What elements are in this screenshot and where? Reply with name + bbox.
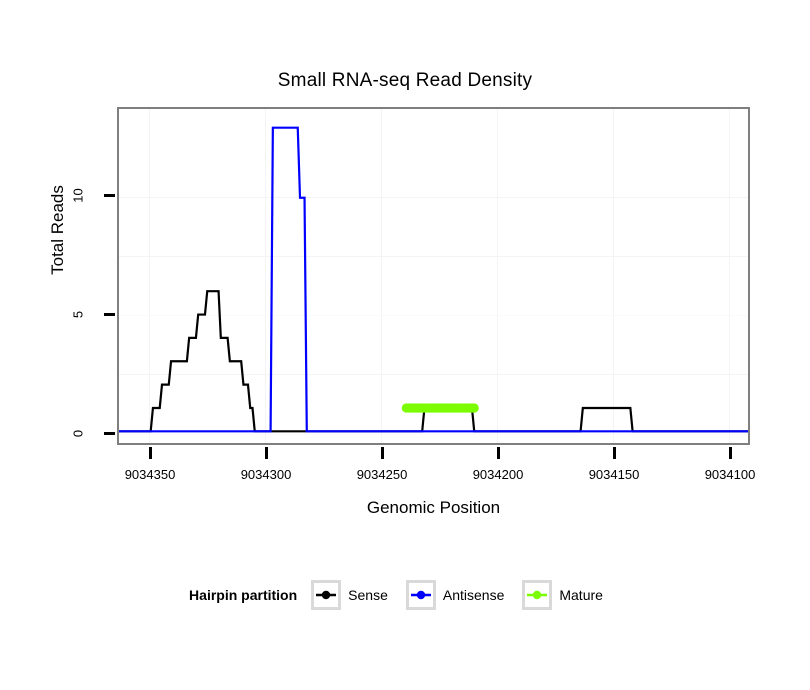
x-tick-mark-9034300 [265,447,268,459]
series-line-antisense [119,128,748,432]
legend-title: Hairpin partition [189,587,297,603]
line-point-key-icon [406,580,436,610]
y-tick-label-0: 0 [71,414,86,454]
chart-title: Small RNA-seq Read Density [0,70,810,92]
legend-label-antisense: Antisense [443,587,504,603]
legend-item-mature[interactable]: Mature [522,580,617,610]
y-tick-mark-0 [104,432,115,435]
line-point-key-icon [522,580,552,610]
x-tick-label-9034150: 9034150 [559,467,669,482]
legend-label-mature: Mature [559,587,603,603]
x-tick-mark-9034150 [613,447,616,459]
x-tick-label-9034300: 9034300 [211,467,321,482]
y-tick-label-5: 5 [71,295,86,335]
x-tick-label-9034200: 9034200 [443,467,553,482]
y-tick-label-10: 10 [71,176,86,216]
legend-item-antisense[interactable]: Antisense [406,580,518,610]
line-point-key-icon [311,580,341,610]
plot-area [119,109,748,443]
series-point-mature [470,403,479,412]
x-tick-label-9034100: 9034100 [675,467,785,482]
y-tick-mark-5 [104,313,115,316]
legend-label-sense: Sense [348,587,388,603]
plot-panel [117,107,750,445]
legend: Hairpin partition Sense Antisense [0,580,810,610]
data-series-layer [119,109,748,443]
x-tick-mark-9034250 [381,447,384,459]
x-tick-mark-9034100 [729,447,732,459]
y-tick-mark-10 [104,194,115,197]
legend-item-sense[interactable]: Sense [311,580,402,610]
chart-figure: Small RNA-seq Read Density Total Reads 0… [0,0,810,690]
x-axis-title: Genomic Position [117,498,750,518]
x-tick-label-9034250: 9034250 [327,467,437,482]
y-axis-title: Total Reads [48,150,68,310]
x-tick-mark-9034200 [497,447,500,459]
x-tick-label-9034350: 9034350 [95,467,205,482]
x-tick-mark-9034350 [149,447,152,459]
